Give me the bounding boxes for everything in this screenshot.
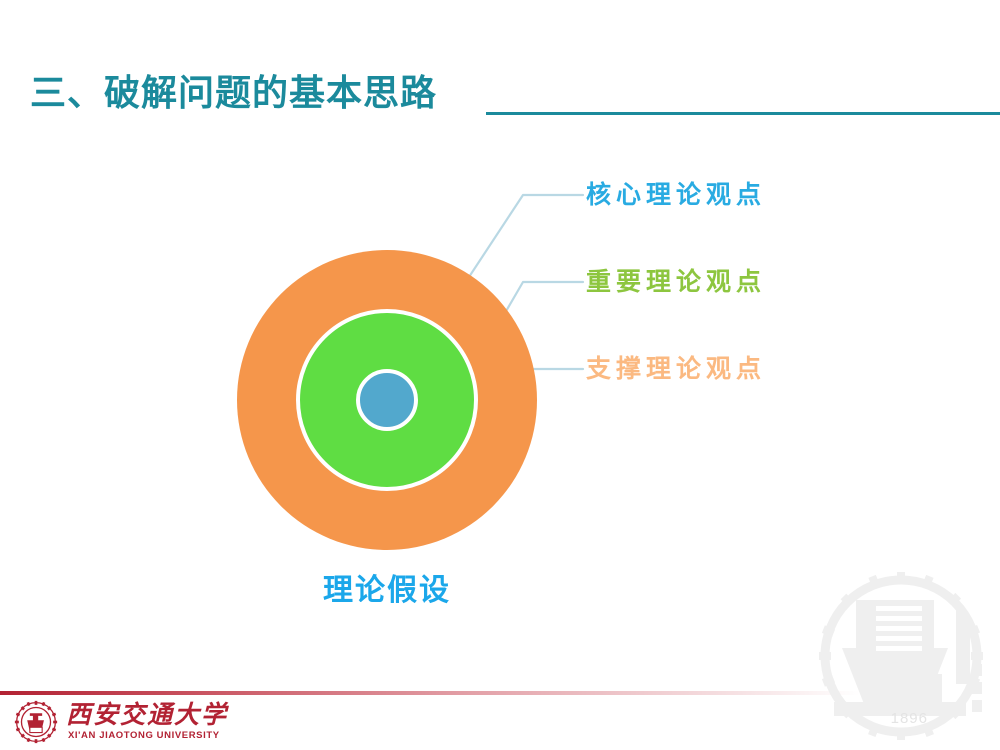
xjtu-emblem-icon: [14, 700, 58, 744]
callout-label-support: 支撑理论观点: [586, 349, 766, 385]
ring-inner-core: [356, 369, 418, 431]
callout-label-important: 重要理论观点: [586, 262, 766, 298]
logo-chinese-name: 西安交通大学: [66, 703, 228, 729]
logo-wordmark: 西安交通大学 XI'AN JIAOTONG UNIVERSITY: [66, 703, 228, 741]
university-logo: 西安交通大学 XI'AN JIAOTONG UNIVERSITY: [14, 700, 228, 744]
watermark-year-label: 1896: [891, 710, 928, 727]
concentric-circles-diagram: [237, 250, 537, 550]
slide-canvas: 三、破解问题的基本思路 核心理论观点 重要理论观点 支撑理论观点 理论假设: [0, 0, 1000, 750]
page-title: 三、破解问题的基本思路: [30, 72, 437, 113]
diagram-caption: 理论假设: [237, 565, 537, 609]
logo-english-name: XI'AN JIAOTONG UNIVERSITY: [68, 730, 228, 741]
footer-divider-rule: [0, 691, 860, 695]
callout-label-core: 核心理论观点: [586, 175, 766, 211]
title-underline-rule: [486, 112, 1000, 115]
